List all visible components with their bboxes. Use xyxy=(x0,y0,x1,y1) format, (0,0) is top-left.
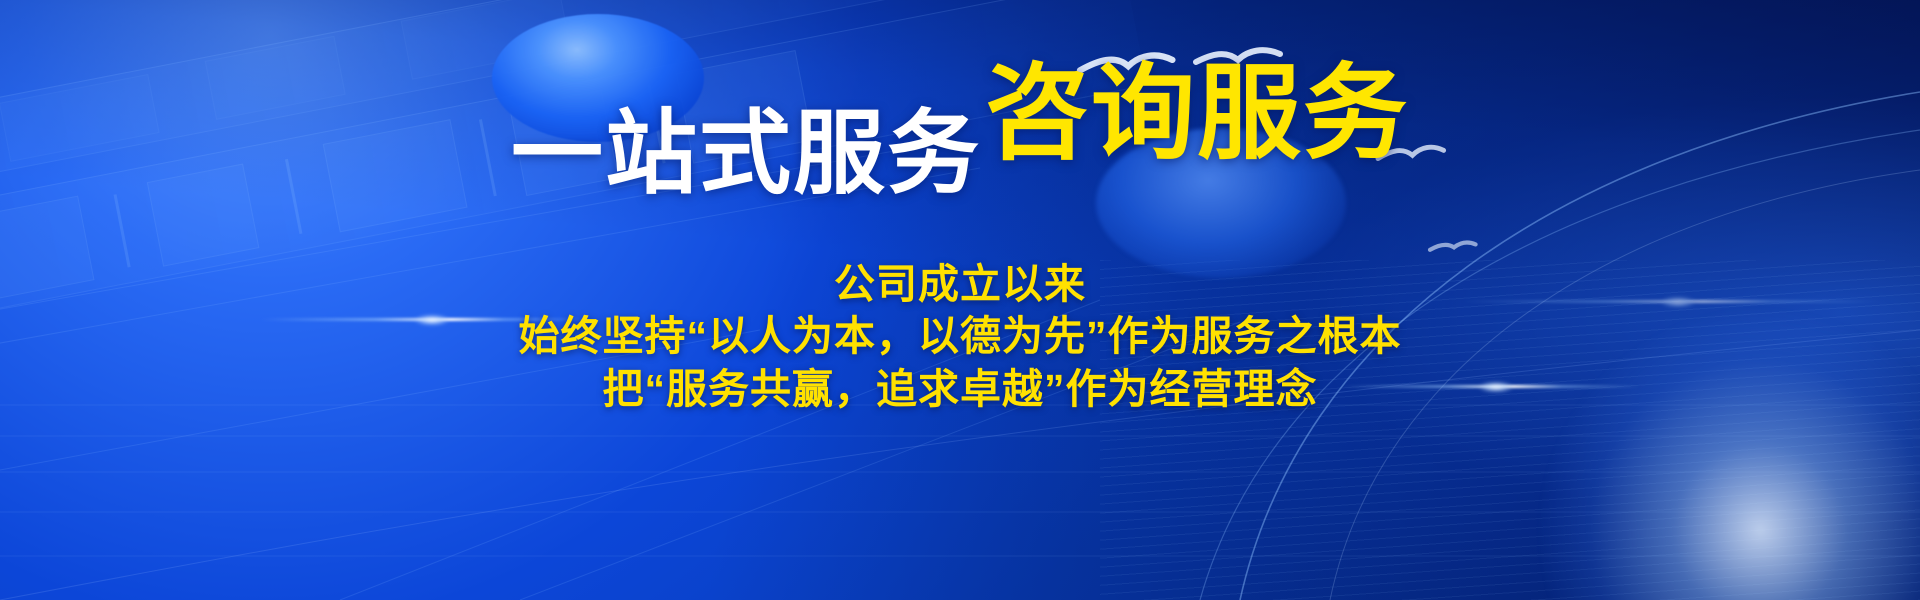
headline-white-text: 一站式服务 xyxy=(511,108,981,200)
body-line-2: 始终坚持“以人为本，以德为先”作为服务之根本 xyxy=(0,310,1920,362)
promo-banner: 一站式服务咨询服务 公司成立以来 始终坚持“以人为本，以德为先”作为服务之根本 … xyxy=(0,0,1920,600)
body-line-1: 公司成立以来 xyxy=(0,258,1920,310)
body-line-3: 把“服务共赢，追求卓越”作为经营理念 xyxy=(0,363,1920,415)
seagull-bird xyxy=(1430,242,1476,249)
body-text-block: 公司成立以来 始终坚持“以人为本，以德为先”作为服务之根本 把“服务共赢，追求卓… xyxy=(0,258,1920,415)
headline: 一站式服务咨询服务 xyxy=(0,72,1920,176)
headline-yellow-text: 咨询服务 xyxy=(985,62,1409,166)
